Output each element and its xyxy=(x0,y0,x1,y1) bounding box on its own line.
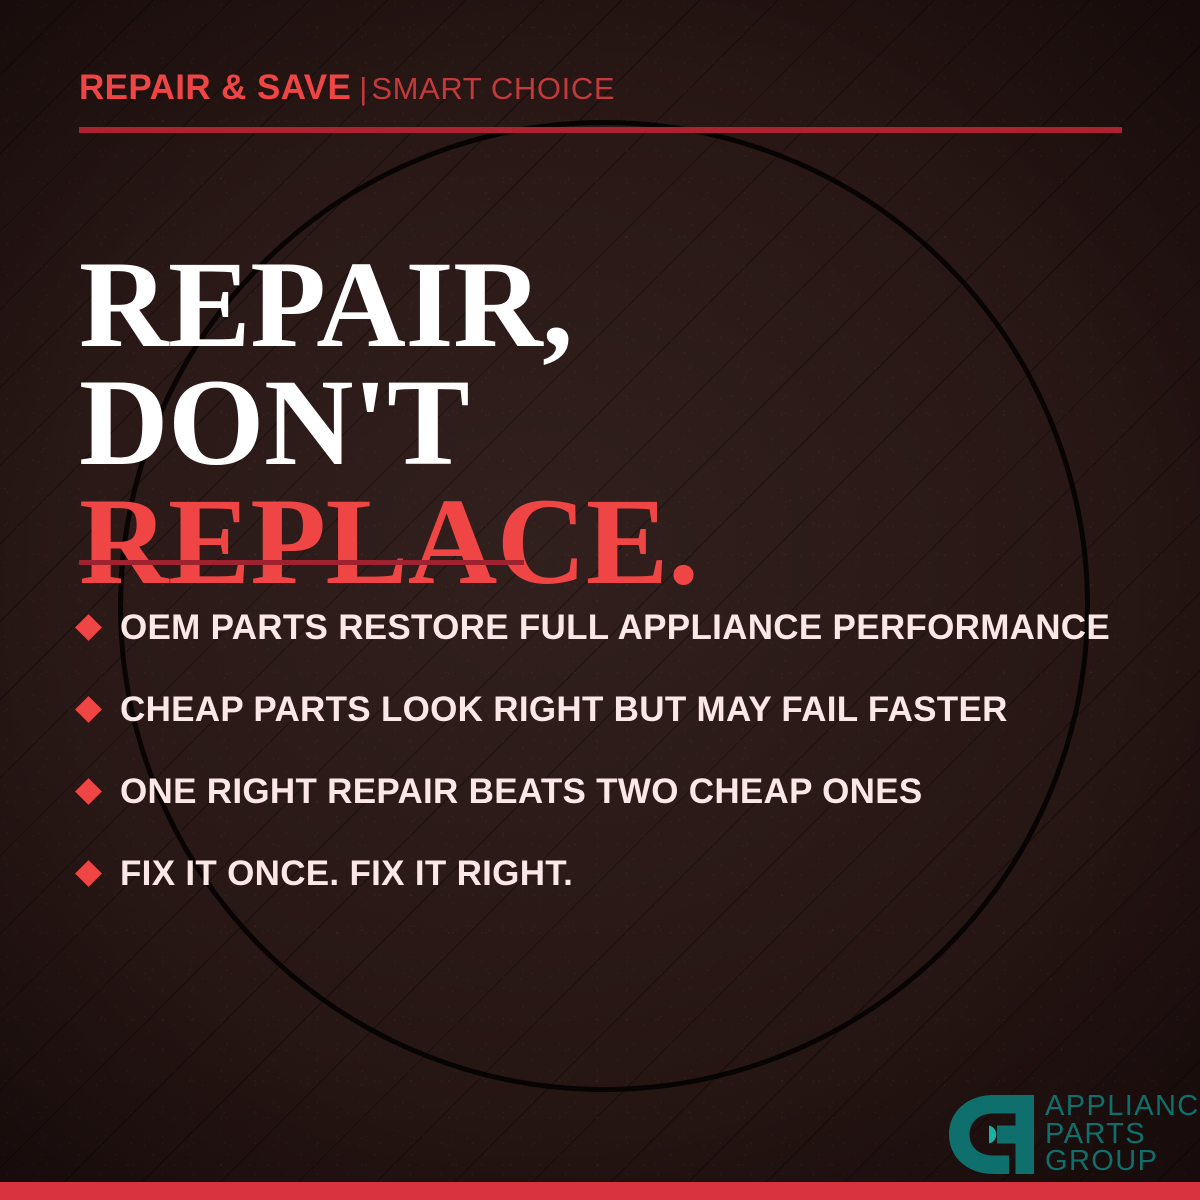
brand-logo-wordmark: APPLIANCE PARTS GROUP xyxy=(1045,1093,1200,1176)
list-item-label: ONE RIGHT REPAIR BEATS TWO CHEAP ONES xyxy=(120,774,923,809)
bottom-accent-bar xyxy=(0,1182,1200,1200)
brand-word-3: GROUP xyxy=(1045,1148,1200,1176)
headline-line-2: DON'T xyxy=(79,364,699,482)
brand-logo: APPLIANCE PARTS GROUP xyxy=(949,1093,1200,1176)
diamond-icon xyxy=(75,696,102,723)
brand-word-1: APPLIANCE xyxy=(1045,1093,1200,1121)
diamond-icon xyxy=(75,860,102,887)
list-item-label: FIX IT ONCE. FIX IT RIGHT. xyxy=(120,856,573,891)
list-item-label: CHEAP PARTS LOOK RIGHT BUT MAY FAIL FAST… xyxy=(120,692,1008,727)
kicker-separator: | xyxy=(359,71,367,106)
page-title: REPAIR, DON'T REPLACE. xyxy=(79,246,699,601)
headline-line-3: REPLACE. xyxy=(79,483,699,601)
section-divider-rule xyxy=(79,560,524,565)
list-item: OEM PARTS RESTORE FULL APPLIANCE PERFORM… xyxy=(79,586,1149,668)
kicker-light-text: SMART CHOICE xyxy=(371,71,615,106)
benefit-list: OEM PARTS RESTORE FULL APPLIANCE PERFORM… xyxy=(79,586,1149,914)
brand-word-2: PARTS xyxy=(1045,1121,1200,1149)
promo-poster: REPAIR & SAVE|SMART CHOICE REPAIR, DON'T… xyxy=(0,0,1200,1200)
list-item-label: OEM PARTS RESTORE FULL APPLIANCE PERFORM… xyxy=(120,610,1110,645)
diamond-icon xyxy=(75,778,102,805)
list-item: ONE RIGHT REPAIR BEATS TWO CHEAP ONES xyxy=(79,750,1149,832)
list-item: CHEAP PARTS LOOK RIGHT BUT MAY FAIL FAST… xyxy=(79,668,1149,750)
kicker-strong-text: REPAIR & SAVE xyxy=(79,68,351,107)
poster-content: REPAIR & SAVE|SMART CHOICE REPAIR, DON'T… xyxy=(0,0,1200,1200)
kicker: REPAIR & SAVE|SMART CHOICE xyxy=(79,70,615,105)
g-monogram-icon xyxy=(949,1095,1034,1174)
list-item: FIX IT ONCE. FIX IT RIGHT. xyxy=(79,832,1149,914)
diamond-icon xyxy=(75,614,102,641)
header-divider-rule xyxy=(79,127,1122,133)
headline-line-1: REPAIR, xyxy=(79,246,699,364)
